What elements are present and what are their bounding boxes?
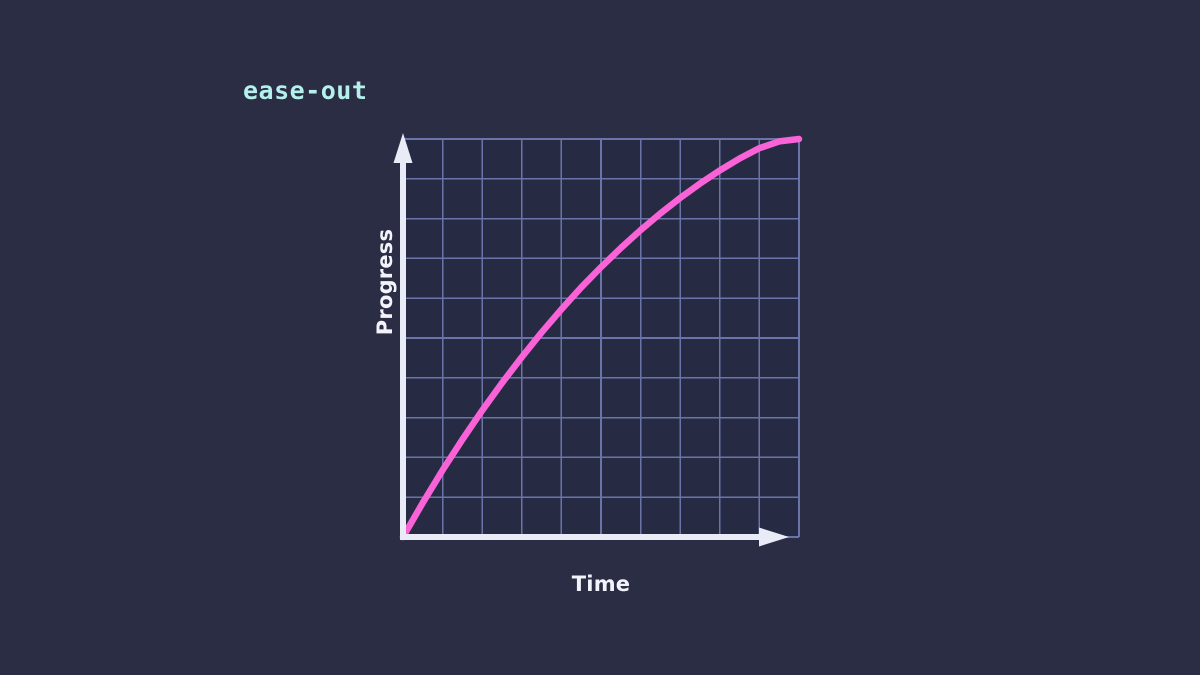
chart-canvas: ease-out bbox=[0, 0, 1200, 675]
x-axis-label: Time bbox=[501, 572, 701, 596]
y-axis-label: Progress bbox=[373, 222, 397, 342]
